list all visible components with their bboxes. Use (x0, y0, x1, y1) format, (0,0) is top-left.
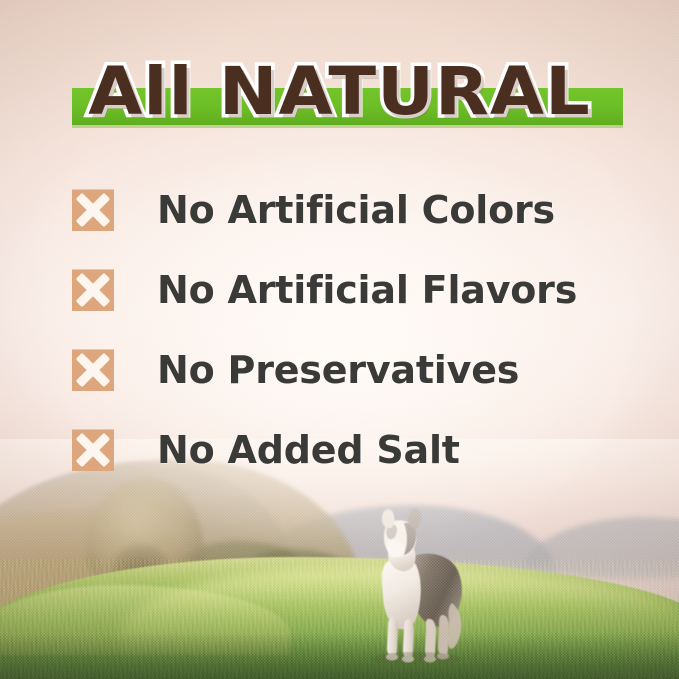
x-mark-icon (72, 349, 114, 391)
headline-banner: All NATURAL (0, 52, 679, 138)
claims-list: No Artificial Colors No Artificial Flavo… (72, 170, 632, 490)
grass-bottom-shadow (0, 633, 679, 679)
page-title: All NATURAL (0, 52, 679, 132)
x-mark-icon (72, 429, 114, 471)
claim-label: No Preservatives (157, 351, 519, 389)
claim-row: No Artificial Colors (72, 170, 632, 250)
claim-row: No Preservatives (72, 330, 632, 410)
claim-label: No Artificial Colors (157, 191, 555, 229)
claim-row: No Artificial Flavors (72, 250, 632, 330)
border-collie-dog (352, 505, 476, 663)
claim-row: No Added Salt (72, 410, 632, 490)
x-mark-icon (72, 189, 114, 231)
claim-label: No Artificial Flavors (157, 271, 577, 309)
x-mark-icon (72, 269, 114, 311)
claim-label: No Added Salt (157, 431, 460, 469)
product-feature-poster: All NATURAL No Artificial Colors No Arti… (0, 0, 679, 679)
